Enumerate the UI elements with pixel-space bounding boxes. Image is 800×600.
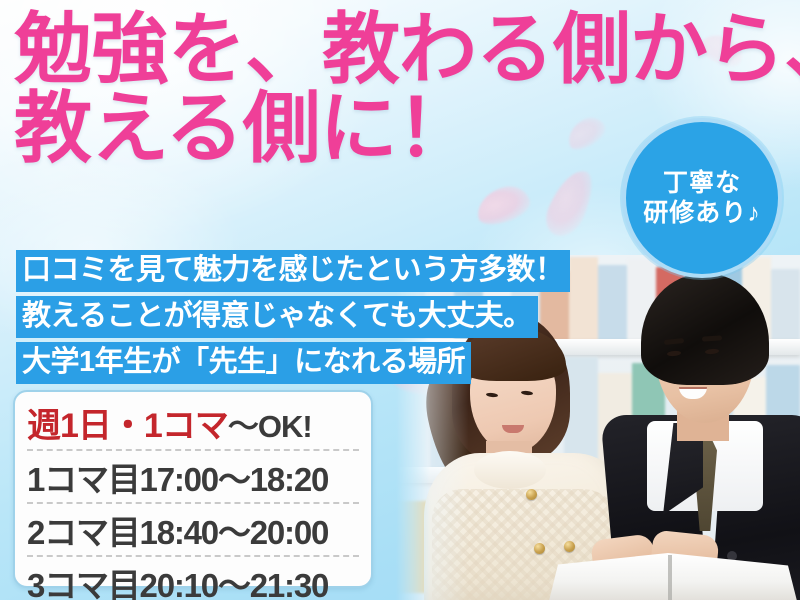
petal-icon	[472, 181, 533, 229]
highlight-banners: 口コミを見て魅力を感じたという方多数！ 教えることが得意じゃなくても大丈夫。 大…	[16, 250, 570, 388]
headline-line-1: 勉強を、教わる側から、	[14, 12, 794, 87]
badge-line-2: 研修あり♪	[643, 198, 761, 229]
schedule-panel: 週1日・1コマ〜OK! 1コマ目17:00〜18:20 2コマ目18:40〜20…	[13, 390, 373, 588]
training-badge: 丁寧な 研修あり♪	[622, 118, 782, 278]
schedule-row: 1コマ目17:00〜18:20	[27, 449, 359, 502]
schedule-heading: 週1日・1コマ〜OK!	[27, 398, 359, 447]
schedule-row: 3コマ目20:10〜21:30	[27, 555, 359, 600]
badge-line-1: 丁寧な	[663, 168, 741, 199]
schedule-heading-gray: 〜OK!	[228, 409, 312, 444]
schedule-heading-red: 週1日・1コマ	[27, 407, 228, 445]
banner-line-2: 教えることが得意じゃなくても大丈夫。	[16, 296, 538, 338]
banner-line-1: 口コミを見て魅力を感じたという方多数！	[16, 250, 570, 292]
banner-line-3: 大学1年生が「先生」になれる場所	[16, 342, 471, 384]
petal-icon	[540, 164, 600, 242]
schedule-row: 2コマ目18:40〜20:00	[27, 502, 359, 555]
job-ad-poster: 勉強を、教わる側から、 教える側に！ 丁寧な 研修あり♪ 口コミを見て魅力を感じ…	[0, 0, 800, 600]
